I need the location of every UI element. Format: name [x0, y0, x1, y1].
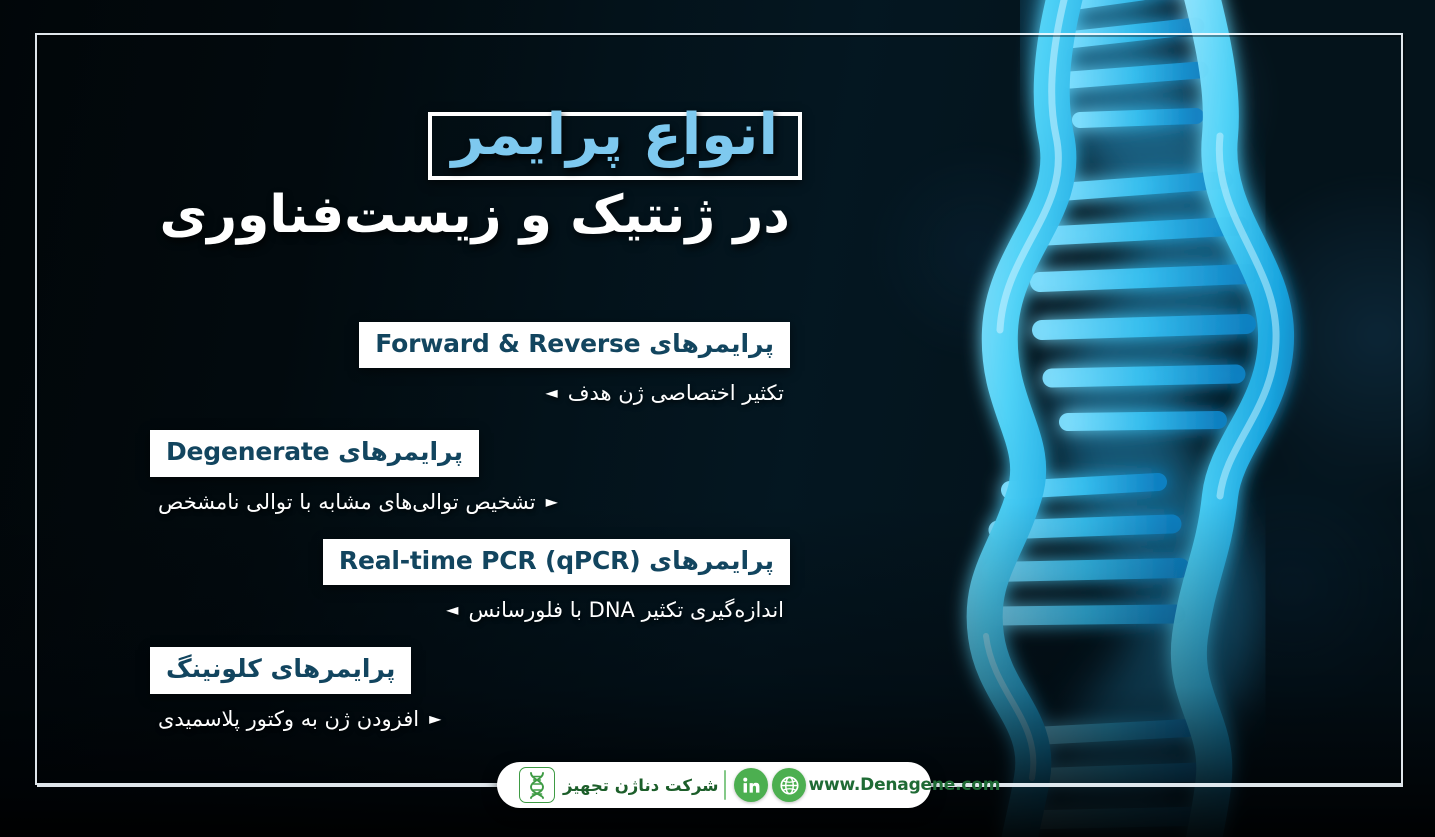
footer-left-rule — [37, 785, 499, 787]
list-item: پرایمرهای Degenerate ►تشخیص توالی‌های مش… — [150, 430, 790, 514]
dna-helix-logo-icon — [526, 771, 548, 799]
title-block: انواع پرایمر در ژنتیک و زیست‌فناوری — [150, 100, 790, 244]
list-item: پرایمرهای کلونینگ ►افزودن ژن به وکتور پل… — [150, 647, 790, 731]
poster-title-secondary: در ژنتیک و زیست‌فناوری — [150, 186, 790, 244]
title-line1-wrapper: انواع پرایمر — [442, 100, 790, 174]
website-globe-button[interactable] — [772, 768, 806, 802]
content-column: انواع پرایمر در ژنتیک و زیست‌فناوری پرای… — [150, 0, 790, 837]
primer-type-list: پرایمرهای Forward & Reverse تکثیر اختصاص… — [150, 322, 790, 756]
list-item: پرایمرهای Forward & Reverse تکثیر اختصاص… — [150, 322, 790, 406]
infographic-poster: انواع پرایمر در ژنتیک و زیست‌فناوری پرای… — [0, 0, 1435, 837]
primer-type-description: اندازه‌گیری تکثیر DNA با فلورسانس◄ — [150, 598, 790, 623]
footer-contact-bar: شرکت دناژن تجهیز www.Denagene.com — [497, 762, 931, 808]
primer-type-badge[interactable]: پرایمرهای Forward & Reverse — [359, 322, 790, 368]
company-name: شرکت دناژن تجهیز — [563, 776, 718, 795]
description-text: اندازه‌گیری تکثیر DNA با فلورسانس — [468, 598, 784, 622]
list-item: پرایمرهای Real-time PCR (qPCR) اندازه‌گی… — [150, 539, 790, 623]
triangle-left-icon: ◄ — [545, 383, 557, 402]
primer-type-badge[interactable]: پرایمرهای Real-time PCR (qPCR) — [323, 539, 790, 585]
globe-icon — [779, 775, 800, 796]
footer-divider — [724, 770, 726, 800]
description-text: تشخیص توالی‌های مشابه با توالی نامشخص — [158, 490, 536, 514]
website-url[interactable]: www.Denagene.com — [808, 775, 1000, 795]
linkedin-icon — [742, 776, 761, 795]
description-text: افزودن ژن به وکتور پلاسمیدی — [158, 707, 419, 731]
triangle-left-icon: ◄ — [446, 600, 458, 619]
description-text: تکثیر اختصاصی ژن هدف — [568, 381, 784, 405]
denagene-logo — [519, 767, 555, 803]
poster-title-primary: انواع پرایمر — [442, 100, 790, 174]
primer-type-badge[interactable]: پرایمرهای کلونینگ — [150, 647, 411, 693]
primer-type-description: ►تشخیص توالی‌های مشابه با توالی نامشخص — [150, 490, 790, 515]
linkedin-button[interactable] — [734, 768, 768, 802]
triangle-right-icon: ► — [546, 492, 558, 511]
triangle-right-icon: ► — [429, 709, 441, 728]
primer-type-badge[interactable]: پرایمرهای Degenerate — [150, 430, 479, 476]
primer-type-description: تکثیر اختصاصی ژن هدف◄ — [150, 381, 790, 406]
primer-type-description: ►افزودن ژن به وکتور پلاسمیدی — [150, 707, 790, 732]
